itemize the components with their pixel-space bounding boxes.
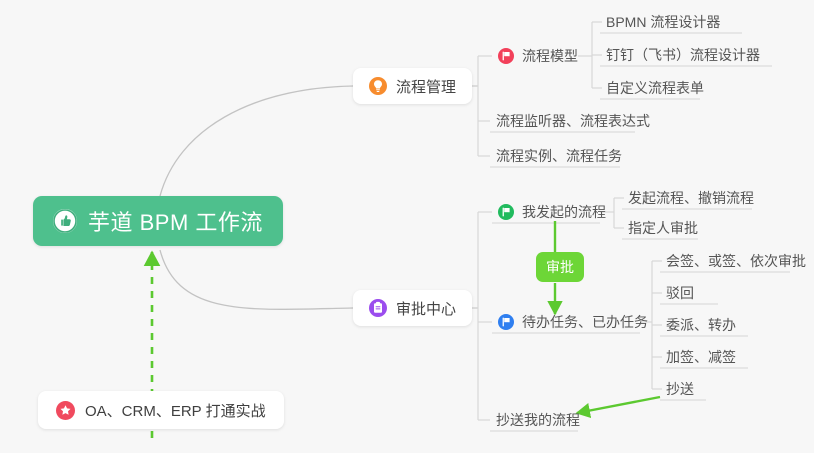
flag-icon xyxy=(498,314,514,330)
node-label: 发起流程、撤销流程 xyxy=(628,188,754,208)
node-cc-to-me-processes[interactable]: 抄送我的流程 xyxy=(490,406,588,434)
node-label: 会签、或签、依次审批 xyxy=(666,251,806,271)
bottom-note-card[interactable]: OA、CRM、ERP 打通实战 xyxy=(38,391,284,429)
branch-process-management[interactable]: 流程管理 xyxy=(353,68,472,104)
node-label: 抄送我的流程 xyxy=(496,410,580,430)
thumbs-up-icon xyxy=(53,209,77,233)
node-label: 流程监听器、流程表达式 xyxy=(496,111,650,131)
node-custom-process-form[interactable]: 自定义流程表单 xyxy=(600,74,712,102)
clipboard-icon xyxy=(369,299,387,317)
flag-icon xyxy=(498,48,514,64)
node-start-cancel-process[interactable]: 发起流程、撤销流程 xyxy=(622,184,762,212)
node-process-listener-expression[interactable]: 流程监听器、流程表达式 xyxy=(490,107,658,135)
root-node[interactable]: 芋道 BPM 工作流 xyxy=(33,196,283,246)
approval-flow-tag[interactable]: 审批 xyxy=(536,252,584,282)
node-carbon-copy[interactable]: 抄送 xyxy=(660,375,702,403)
node-label: 指定人审批 xyxy=(628,218,698,238)
node-label: 驳回 xyxy=(666,283,694,303)
node-label: 流程模型 xyxy=(522,46,578,66)
branch-label: 流程管理 xyxy=(396,76,456,97)
mindmap-canvas: 芋道 BPM 工作流 流程管理 流程模型 BPMN 流程设计器 钉钉（飞书）流程… xyxy=(0,0,814,453)
approval-tag-label: 审批 xyxy=(546,257,574,277)
node-add-remove-sign[interactable]: 加签、减签 xyxy=(660,343,744,371)
node-label: 加签、减签 xyxy=(666,347,736,367)
link-root-to-process-management xyxy=(160,86,353,196)
node-dingtalk-feishu-designer[interactable]: 钉钉（飞书）流程设计器 xyxy=(600,41,768,69)
node-process-model[interactable]: 流程模型 xyxy=(492,42,586,70)
node-assignee-approval[interactable]: 指定人审批 xyxy=(622,214,706,242)
arrow-cc-link xyxy=(577,397,660,413)
node-process-instance-task[interactable]: 流程实例、流程任务 xyxy=(490,142,630,170)
node-label: 委派、转办 xyxy=(666,315,736,335)
bottom-note-label: OA、CRM、ERP 打通实战 xyxy=(85,400,266,421)
lightbulb-icon xyxy=(369,77,387,95)
node-label: 自定义流程表单 xyxy=(606,78,704,98)
node-label: 钉钉（飞书）流程设计器 xyxy=(606,45,760,65)
branch-approval-center[interactable]: 审批中心 xyxy=(353,290,472,326)
node-bpmn-designer[interactable]: BPMN 流程设计器 xyxy=(600,8,728,36)
node-label: 我发起的流程 xyxy=(522,202,606,222)
root-label: 芋道 BPM 工作流 xyxy=(88,205,263,237)
node-label: 待办任务、已办任务 xyxy=(522,312,648,332)
star-icon xyxy=(56,401,75,420)
node-reject[interactable]: 驳回 xyxy=(660,279,702,307)
link-root-to-approval-center xyxy=(160,250,353,309)
flag-icon xyxy=(498,204,514,220)
branch-label: 审批中心 xyxy=(396,298,456,319)
node-label: 抄送 xyxy=(666,379,694,399)
node-my-initiated-processes[interactable]: 我发起的流程 xyxy=(492,198,614,226)
node-countersign-orsign-sequential[interactable]: 会签、或签、依次审批 xyxy=(660,247,814,275)
node-todo-done-tasks[interactable]: 待办任务、已办任务 xyxy=(492,308,656,336)
node-label: 流程实例、流程任务 xyxy=(496,146,622,166)
node-delegate-transfer[interactable]: 委派、转办 xyxy=(660,311,744,339)
node-label: BPMN 流程设计器 xyxy=(606,12,720,32)
